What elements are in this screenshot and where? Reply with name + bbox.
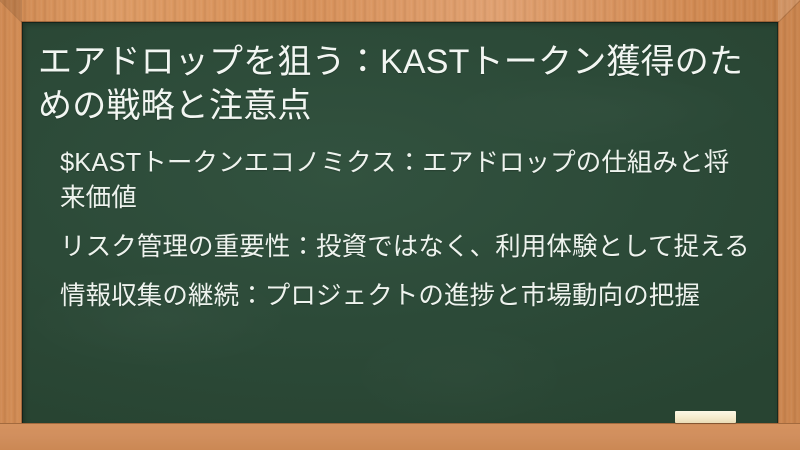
slide-title: エアドロップを狙う：KASTトークン獲得のための戦略と注意点 [38, 40, 758, 128]
chalk-stick [675, 411, 736, 423]
chalkboard-surface: エアドロップを狙う：KASTトークン獲得のための戦略と注意点 $KASTトークン… [22, 22, 778, 424]
frame-seam-top-left [0, 0, 23, 23]
slide-content: エアドロップを狙う：KASTトークン獲得のための戦略と注意点 $KASTトークン… [22, 22, 778, 314]
bullet-item-1: $KASTトークンエコノミクス：エアドロップの仕組みと将来価値 [60, 146, 752, 216]
bullet-item-3: 情報収集の継続：プロジェクトの進捗と市場動向の把握 [60, 279, 752, 314]
chalkboard-frame: エアドロップを狙う：KASTトークン獲得のための戦略と注意点 $KASTトークン… [0, 0, 800, 450]
bullet-item-2: リスク管理の重要性：投資ではなく、利用体験として捉える [60, 230, 752, 265]
bullet-list: $KASTトークンエコノミクス：エアドロップの仕組みと将来価値 リスク管理の重要… [38, 146, 758, 314]
frame-seam-top-right [777, 0, 800, 23]
chalk-ledge [0, 423, 800, 450]
